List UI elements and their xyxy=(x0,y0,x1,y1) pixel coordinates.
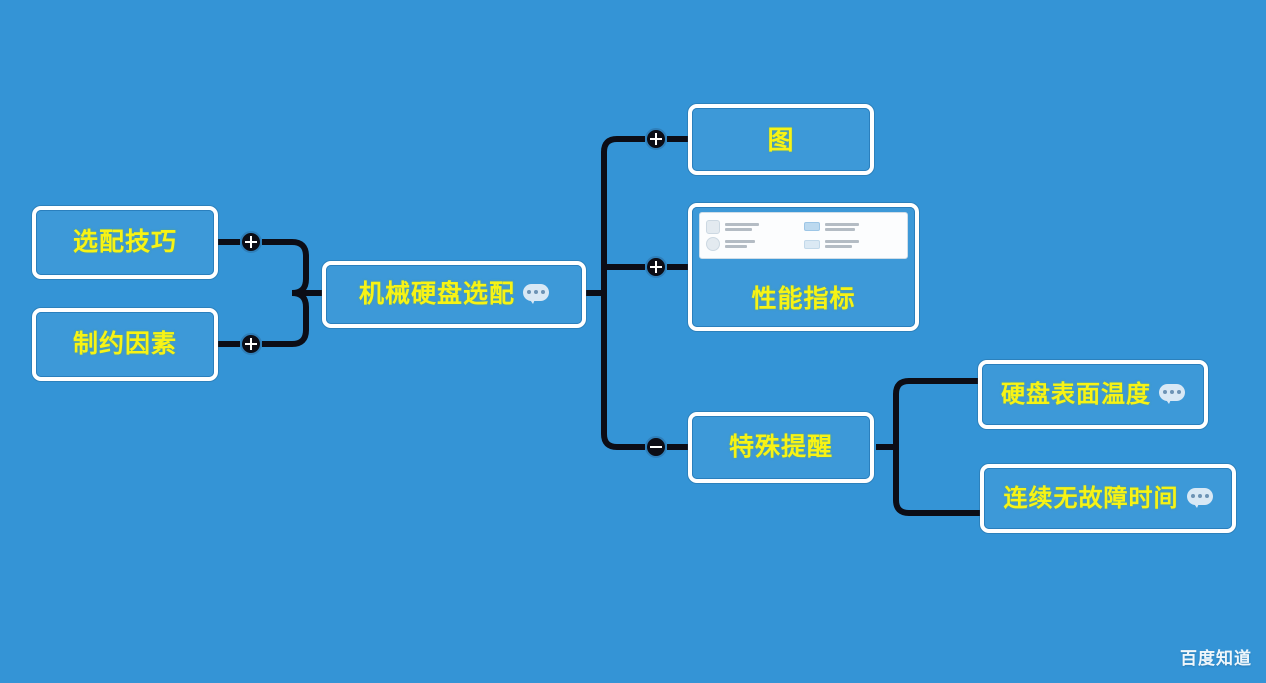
thumbnail-text-lines xyxy=(825,223,859,231)
plus-icon-vertical xyxy=(655,133,657,145)
node-right-3-1-label: 硬盘表面温度 xyxy=(1001,383,1151,407)
node-left-1-label: 选配技巧 xyxy=(73,230,177,255)
node-left-1[interactable]: 选配技巧 xyxy=(32,206,218,279)
node-right-3-2-inner: 连续无故障时间 xyxy=(984,468,1232,529)
toggle-right-2[interactable] xyxy=(645,256,667,278)
node-right-3-1-label-row: 硬盘表面温度 xyxy=(1001,383,1185,407)
node-left-2-label: 制约因素 xyxy=(73,332,177,357)
comment-bubble-dots xyxy=(1163,390,1181,394)
thumbnail-right-column xyxy=(804,218,902,253)
thumbnail-left-column xyxy=(706,218,804,253)
node-right-1[interactable]: 图 xyxy=(688,104,874,175)
node-root[interactable]: 机械硬盘选配 xyxy=(322,261,586,328)
minus-icon-horizontal xyxy=(650,446,662,448)
node-left-2[interactable]: 制约因素 xyxy=(32,308,218,381)
bar-icon-light xyxy=(804,240,820,249)
comment-bubble-tail xyxy=(528,297,536,304)
plus-icon-vertical xyxy=(250,338,252,350)
node-left-2-inner: 制约因素 xyxy=(36,312,214,377)
plus-icon-vertical xyxy=(655,261,657,273)
node-root-label-row: 机械硬盘选配 xyxy=(359,282,549,307)
rounded-square-icon xyxy=(706,220,720,234)
bar-icon xyxy=(804,222,820,231)
node-right-3-2-label-row: 连续无故障时间 xyxy=(1004,487,1213,511)
node-right-2-label-row: 性能指标 xyxy=(751,287,855,312)
node-right-3-label: 特殊提醒 xyxy=(729,435,833,460)
thumbnail-text-lines xyxy=(725,223,759,231)
comment-bubble-dots xyxy=(1191,494,1209,498)
node-root-label: 机械硬盘选配 xyxy=(359,282,515,307)
thumbnail-item xyxy=(804,240,902,249)
node-root-inner: 机械硬盘选配 xyxy=(326,265,582,324)
thumbnail-text-lines xyxy=(725,240,755,248)
embedded-thumbnail-image[interactable] xyxy=(699,212,908,259)
node-right-3-1-inner: 硬盘表面温度 xyxy=(982,364,1204,425)
thumbnail-item xyxy=(706,237,804,251)
circle-icon xyxy=(706,237,720,251)
comment-bubble-dots xyxy=(527,290,545,294)
comment-icon[interactable] xyxy=(523,284,549,305)
node-right-3-1[interactable]: 硬盘表面温度 xyxy=(978,360,1208,429)
toggle-right-3[interactable] xyxy=(645,436,667,458)
node-right-3-inner: 特殊提醒 xyxy=(692,416,870,479)
comment-bubble-tail xyxy=(1192,501,1200,508)
mindmap-canvas: 选配技巧 制约因素 机械硬盘选配 xyxy=(0,0,1266,683)
comment-icon[interactable] xyxy=(1187,488,1213,509)
toggle-left-2[interactable] xyxy=(240,333,262,355)
node-right-3-2[interactable]: 连续无故障时间 xyxy=(980,464,1236,533)
node-right-1-inner: 图 xyxy=(692,108,870,171)
node-left-1-inner: 选配技巧 xyxy=(36,210,214,275)
thumbnail-item xyxy=(706,220,804,234)
node-right-3-label-row: 特殊提醒 xyxy=(729,435,833,460)
node-left-2-label-row: 制约因素 xyxy=(73,332,177,357)
comment-bubble-tail xyxy=(1164,397,1172,404)
toggle-left-1[interactable] xyxy=(240,231,262,253)
node-left-1-label-row: 选配技巧 xyxy=(73,230,177,255)
node-right-1-label: 图 xyxy=(767,127,794,153)
thumbnail-text-lines xyxy=(825,240,859,248)
node-right-2-label: 性能指标 xyxy=(751,287,855,312)
comment-icon[interactable] xyxy=(1159,384,1185,405)
toggle-right-1[interactable] xyxy=(645,128,667,150)
node-right-2[interactable]: 性能指标 xyxy=(688,203,919,331)
plus-icon-vertical xyxy=(250,236,252,248)
thumbnail-item xyxy=(804,222,902,231)
node-right-3[interactable]: 特殊提醒 xyxy=(688,412,874,483)
node-right-1-label-row: 图 xyxy=(767,127,794,153)
watermark: 百度知道 xyxy=(1180,644,1252,669)
node-right-3-2-label: 连续无故障时间 xyxy=(1004,487,1179,511)
